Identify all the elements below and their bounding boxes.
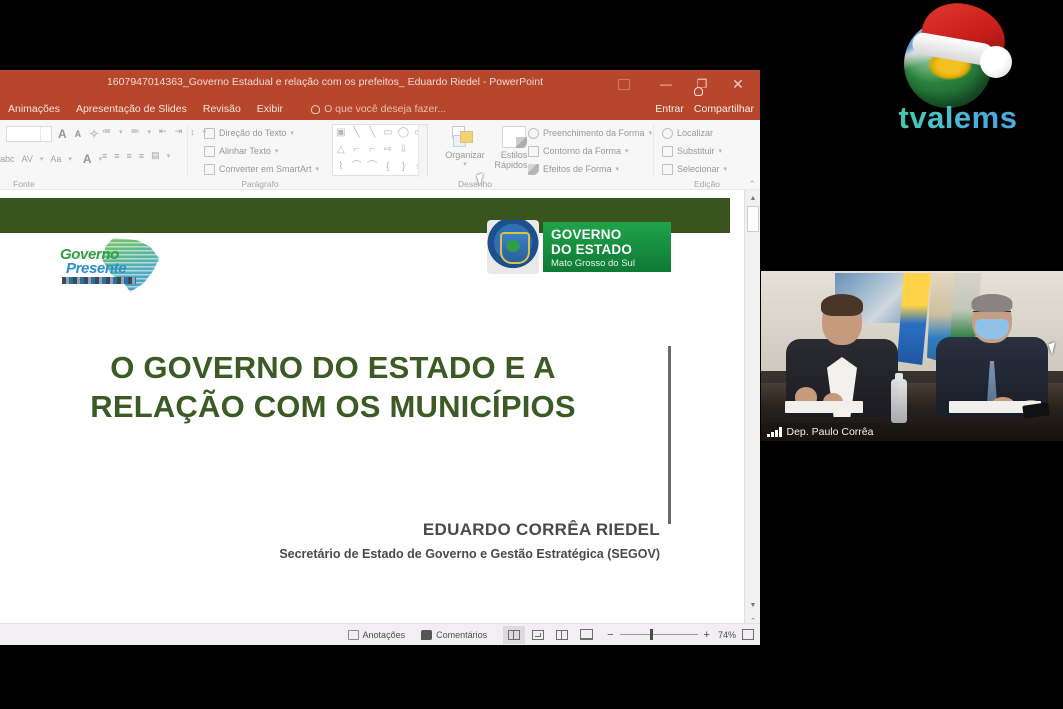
- arrange-label: Organizar: [445, 150, 485, 160]
- video-call-tile[interactable]: Dep. Paulo Corrêa: [761, 271, 1063, 441]
- decrease-font-size-button[interactable]: A: [75, 129, 82, 139]
- slide-vertical-scrollbar[interactable]: ▲ ▼ ⌃ ⌄: [744, 190, 760, 645]
- participant-left: [783, 297, 901, 417]
- sign-in-button[interactable]: Entrar: [655, 103, 684, 115]
- plus-icon[interactable]: +: [704, 629, 710, 641]
- tab-animacoes[interactable]: Animações: [8, 103, 60, 115]
- quick-styles-icon: [502, 126, 526, 148]
- justify-button[interactable]: ≡: [139, 151, 144, 161]
- align-text-button[interactable]: Alinhar Texto ▾: [204, 143, 278, 159]
- slide-vertical-rule: [668, 346, 671, 524]
- minus-icon[interactable]: −: [607, 629, 613, 641]
- status-bar: Anotações Comentários − + 74%: [0, 623, 760, 645]
- shape-effects-button[interactable]: Efeitos de Forma ▾: [528, 161, 619, 177]
- participant-name-bar: Dep. Paulo Corrêa: [761, 423, 881, 441]
- arrange-button[interactable]: Organizar ▾: [440, 126, 490, 168]
- shape-oval-icon: ◯: [398, 128, 409, 138]
- shape-outline-button[interactable]: Contorno da Forma ▾: [528, 143, 629, 159]
- shape-left-brace-icon: {: [386, 162, 389, 172]
- chevron-down-icon[interactable]: [40, 127, 51, 141]
- align-text-icon: [204, 146, 215, 157]
- zoom-slider-thumb[interactable]: [650, 629, 653, 640]
- close-icon[interactable]: ✕: [720, 70, 756, 98]
- governo-presente-underbar: [62, 277, 136, 284]
- shape-outline-icon: [528, 146, 539, 157]
- columns-button[interactable]: ▤: [151, 150, 160, 161]
- shape-effects-icon: [528, 164, 539, 175]
- bullets-button[interactable]: ≔: [102, 126, 111, 137]
- shape-rectangle-icon: ▭: [383, 128, 392, 138]
- shapes-gallery[interactable]: ▣╲╲ ▭◯▭ △⌐⌐ ⇨⇩◗ ⌇⌒⌒ {}☆: [332, 124, 428, 176]
- replace-button[interactable]: Substituir ▾: [662, 143, 722, 159]
- share-button[interactable]: Compartilhar: [694, 103, 754, 115]
- font-size-input[interactable]: [6, 126, 52, 142]
- participant-right-hair: [972, 294, 1013, 312]
- reading-view-icon[interactable]: [551, 626, 573, 644]
- shape-fill-label: Preenchimento da Forma: [543, 128, 645, 138]
- ribbon-group-paragrafo: ≔▾ ≕▾ ⇤ ⇥ ↕▾ ≡ ≡ ≡ ≡ ▤▾ Direção do Texto…: [188, 120, 332, 190]
- slide-editing-area: Governo Presente GOVERNO DO ESTADO Mato …: [0, 190, 760, 645]
- shape-bracket-icon: ⌐: [354, 145, 360, 155]
- select-button[interactable]: Selecionar ▾: [662, 161, 727, 177]
- zoom-level-label[interactable]: 74%: [718, 630, 736, 640]
- replace-label: Substituir: [677, 146, 715, 156]
- arrange-icon: [452, 126, 478, 148]
- caret-up-icon[interactable]: ▲: [745, 190, 761, 206]
- ribbon-group-desenho: ▣╲╲ ▭◯▭ △⌐⌐ ⇨⇩◗ ⌇⌒⌒ {}☆ Organizar ▾ Esti…: [332, 120, 654, 190]
- line-spacing-button[interactable]: ↕: [190, 127, 195, 137]
- shape-bracket2-icon: ⌐: [369, 145, 375, 155]
- shapes-gallery-scrollbar[interactable]: [418, 125, 427, 177]
- quick-styles-label-1: Estilos: [501, 150, 528, 160]
- find-label: Localizar: [677, 128, 713, 138]
- lightbulb-icon: [311, 105, 320, 114]
- document-papers-left: [785, 401, 863, 413]
- shape-arc-icon: ⌒: [367, 162, 377, 172]
- find-button[interactable]: Localizar: [662, 125, 713, 141]
- normal-view-icon[interactable]: [503, 626, 525, 644]
- shape-curve-icon: ⌒: [351, 162, 361, 172]
- powerpoint-window: 1607947014363_Governo Estadual e relação…: [0, 70, 760, 645]
- shape-down-arrow-icon: ⇩: [399, 145, 407, 155]
- tab-exibir[interactable]: Exibir: [257, 103, 283, 115]
- smartart-icon: [204, 164, 215, 175]
- minimize-icon[interactable]: —: [648, 70, 684, 98]
- shape-textbox-icon: ▣: [336, 128, 345, 138]
- increase-indent-button[interactable]: ⇥: [175, 126, 183, 137]
- replace-icon: [662, 146, 673, 157]
- ribbon-group-label-fonte: Fonte: [0, 179, 84, 189]
- water-bottle: [891, 379, 907, 423]
- governo-estado-ms-logo: GOVERNO DO ESTADO Mato Grosso do Sul: [487, 220, 677, 276]
- text-direction-icon: [204, 128, 215, 139]
- comments-button[interactable]: Comentários: [421, 630, 487, 640]
- align-right-button[interactable]: ≡: [127, 151, 132, 161]
- comment-bubble-icon: [421, 630, 432, 640]
- santa-hat-icon: [906, 2, 1016, 74]
- help-icon[interactable]: ⃞: [612, 70, 648, 98]
- quick-styles-label-2: Rápidos: [494, 160, 527, 170]
- notes-button[interactable]: Anotações: [348, 630, 406, 640]
- participant-left-hair: [821, 294, 863, 316]
- share-label: Compartilhar: [694, 103, 754, 115]
- face-mask-icon: [975, 319, 1009, 339]
- screen-capture: tvalems 1607947014363_Governo Estadual e…: [0, 0, 1063, 709]
- shape-right-brace-icon: }: [402, 162, 405, 172]
- shape-outline-label: Contorno da Forma: [543, 146, 621, 156]
- pointer-icon: [662, 164, 673, 175]
- character-spacing-button[interactable]: AV: [22, 154, 33, 164]
- tab-revisao[interactable]: Revisão: [203, 103, 241, 115]
- window-controls: ⃞ — ❐ ✕: [612, 70, 756, 98]
- shape-freeform-icon: ⌇: [338, 162, 343, 172]
- governo-estado-line1: GOVERNO: [551, 227, 663, 242]
- chevron-up-icon[interactable]: ⌃: [748, 179, 756, 190]
- participant-right: [933, 295, 1051, 417]
- comments-label: Comentários: [436, 630, 487, 640]
- convert-smartart-button[interactable]: Converter em SmartArt ▾: [204, 161, 319, 177]
- shape-effects-label: Efeitos de Forma: [543, 164, 612, 174]
- slide-author-name[interactable]: EDUARDO CORRÊA RIEDEL: [0, 520, 660, 540]
- select-label: Selecionar: [677, 164, 720, 174]
- governo-presente-line2: Presente: [66, 260, 126, 277]
- slide-title-line-2[interactable]: RELAÇÃO COM OS MUNICÍPIOS: [0, 387, 666, 426]
- decrease-indent-button[interactable]: ⇤: [159, 126, 167, 137]
- numbering-button[interactable]: ≕: [131, 126, 140, 137]
- slide-sorter-icon[interactable]: [527, 626, 549, 644]
- increase-font-size-button[interactable]: A: [58, 127, 67, 141]
- ms-coat-of-arms-icon: [487, 220, 539, 274]
- shape-right-arrow-icon: ⇨: [384, 145, 392, 155]
- governo-estado-line2: DO ESTADO: [551, 242, 663, 257]
- tell-me-search[interactable]: O que você deseja fazer...: [311, 103, 446, 115]
- font-color-button[interactable]: A: [83, 152, 92, 166]
- slide-author-role[interactable]: Secretário de Estado de Governo e Gestão…: [0, 547, 660, 561]
- scrollbar-thumb[interactable]: [747, 206, 759, 232]
- signal-bars-icon: [767, 427, 782, 437]
- caret-down-icon[interactable]: ▼: [745, 597, 761, 613]
- person-share-icon: [694, 87, 703, 96]
- ribbon: A A ✧ abc AV ▾ Aa ▾ A ▾ Fonte: [0, 120, 760, 190]
- shape-arrow-icon: ╲: [369, 128, 375, 138]
- slide-title-line-1[interactable]: O GOVERNO DO ESTADO E A: [0, 348, 666, 387]
- title-bar: 1607947014363_Governo Estadual e relação…: [0, 70, 760, 98]
- ribbon-group-edicao: Localizar Substituir ▾ Selecionar ▾ Ediç…: [654, 120, 760, 190]
- clear-formatting-icon[interactable]: ✧: [89, 127, 99, 141]
- ribbon-tab-bar: Animações Apresentação de Slides Revisão…: [0, 98, 760, 120]
- governo-estado-line3: Mato Grosso do Sul: [551, 257, 663, 270]
- text-direction-button[interactable]: Direção do Texto ▾: [204, 125, 294, 141]
- ribbon-group-label-paragrafo: Parágrafo: [188, 179, 332, 189]
- slideshow-icon[interactable]: [575, 626, 597, 644]
- fit-to-window-icon[interactable]: [742, 629, 754, 640]
- tab-apresentacao-de-slides[interactable]: Apresentação de Slides: [76, 103, 187, 115]
- zoom-slider[interactable]: − +: [607, 629, 710, 641]
- change-case-button[interactable]: Aa: [50, 154, 61, 164]
- governo-estado-box: GOVERNO DO ESTADO Mato Grosso do Sul: [543, 222, 671, 272]
- text-direction-label: Direção do Texto: [219, 128, 286, 138]
- tvalems-watermark: tvalems: [858, 4, 1058, 134]
- align-text-label: Alinhar Texto: [219, 146, 271, 156]
- slide-canvas[interactable]: Governo Presente GOVERNO DO ESTADO Mato …: [0, 190, 730, 615]
- bold-italic-truncated-icon[interactable]: abc: [0, 154, 15, 164]
- notes-label: Anotações: [363, 630, 406, 640]
- tvalems-brand-text: tvalems: [866, 100, 1050, 136]
- governo-presente-logo: Governo Presente: [58, 236, 168, 292]
- ribbon-group-label-edicao: Edição: [654, 179, 760, 189]
- shape-triangle-icon: △: [337, 145, 345, 155]
- align-left-button[interactable]: ≡: [102, 151, 107, 161]
- magnifier-icon: [662, 128, 673, 139]
- shape-line-icon: ╲: [353, 128, 359, 138]
- convert-smartart-label: Converter em SmartArt: [219, 164, 312, 174]
- tell-me-placeholder: O que você deseja fazer...: [324, 103, 446, 115]
- ribbon-group-label-desenho: Desenho: [410, 179, 540, 189]
- shape-fill-button[interactable]: Preenchimento da Forma ▾: [528, 125, 652, 141]
- notes-icon: [348, 630, 359, 640]
- shape-fill-icon: [528, 128, 539, 139]
- align-center-button[interactable]: ≡: [114, 151, 119, 161]
- participant-name-label: Dep. Paulo Corrêa: [787, 426, 874, 438]
- glasses-icon: [973, 311, 1011, 319]
